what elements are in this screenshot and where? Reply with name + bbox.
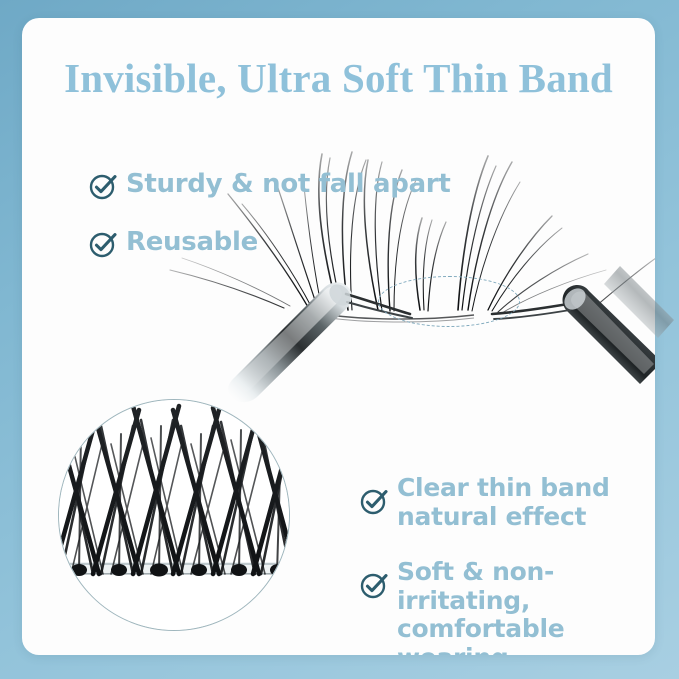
circle-check-icon [359,486,389,516]
lash-criss-cross-pattern [59,400,289,630]
dashed-ellipse-highlight [378,276,520,327]
infographic-canvas: Invisible, Ultra Soft Thin Band [0,0,679,679]
feature-line-2: comfortable wearing [397,615,655,655]
feature-label: Soft & non-irritating, comfortable weari… [397,558,655,655]
page-title: Invisible, Ultra Soft Thin Band [22,54,655,102]
feature-line-2: natural effect [397,503,610,532]
feature-item-soft: Soft & non-irritating, comfortable weari… [359,558,655,655]
feature-item-reusable: Reusable [88,228,258,259]
circle-check-icon [88,229,118,259]
feature-label: Clear thin band natural effect [397,474,610,531]
feature-item-sturdy: Sturdy & not fall apart [88,170,450,201]
feature-line-1: Soft & non-irritating, [397,558,655,615]
feature-line-1: Sturdy & not fall apart [126,169,450,199]
magnified-lash-band-closeup [58,399,290,631]
feature-label: Sturdy & not fall apart [126,170,450,200]
circle-check-icon [88,171,118,201]
feature-line-1: Clear thin band [397,474,610,503]
feature-item-clear-band: Clear thin band natural effect [359,474,610,531]
content-card: Invisible, Ultra Soft Thin Band [22,18,655,655]
feature-line-1: Reusable [126,227,258,257]
circle-check-icon [359,570,389,600]
feature-label: Reusable [126,228,258,258]
